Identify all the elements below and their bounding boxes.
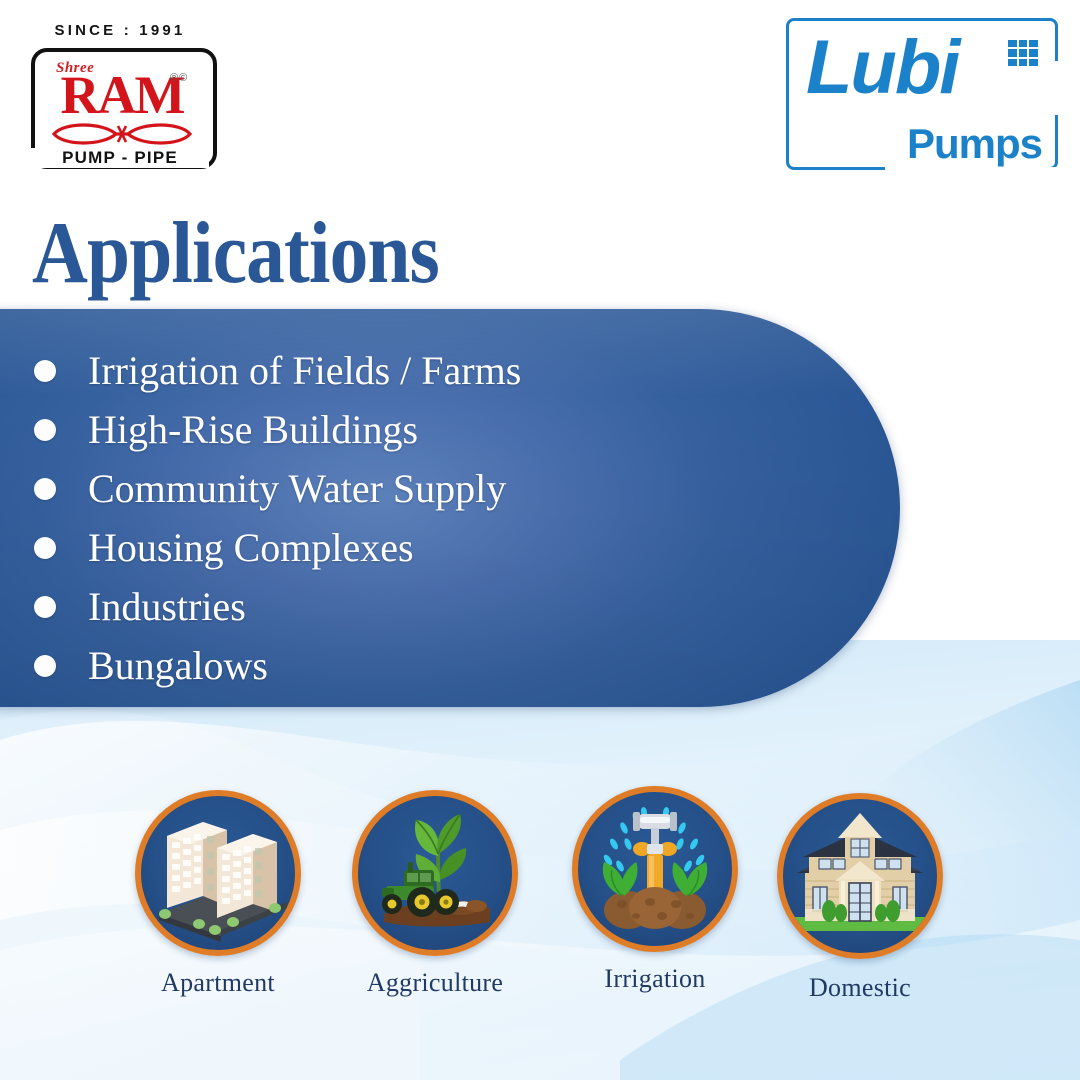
lubi-pumps-logo: Lubi Pumps: [786, 18, 1058, 170]
applications-list: Irrigation of Fields / Farms High-Rise B…: [34, 341, 794, 695]
pump-pipe-text: PUMP - PIPE: [31, 148, 209, 168]
bullet-dot-icon: [34, 360, 56, 382]
poster-canvas: SINCE : 1991 Shree RAM ®© PUMP - PIPE Lu…: [0, 0, 1080, 1080]
list-item-label: Irrigation of Fields / Farms: [88, 350, 521, 392]
lubi-grid-icon: [1008, 40, 1038, 66]
bullet-dot-icon: [34, 419, 56, 441]
segment-domestic: Domestic: [772, 793, 948, 1003]
since-text: SINCE : 1991: [22, 22, 218, 39]
registered-mark: ®©: [170, 72, 188, 84]
list-item-label: Bungalows: [88, 645, 268, 687]
segment-label: Domestic: [772, 973, 948, 1003]
page-title: Applications: [32, 208, 439, 300]
list-item-label: Industries: [88, 586, 246, 628]
lubi-wordmark: Lubi: [806, 24, 958, 111]
segment-agriculture: Aggriculture: [347, 790, 523, 998]
list-item-label: High-Rise Buildings: [88, 409, 418, 451]
bullet-dot-icon: [34, 655, 56, 677]
pumps-subtitle: Pumps: [907, 120, 1042, 168]
tractor-plant-icon: [352, 790, 518, 956]
list-item: Irrigation of Fields / Farms: [34, 341, 794, 400]
shree-ram-logo: SINCE : 1991 Shree RAM ®© PUMP - PIPE: [22, 22, 218, 166]
bullet-dot-icon: [34, 596, 56, 618]
ram-swirl-icon: [50, 122, 194, 146]
segment-label: Irrigation: [567, 964, 743, 994]
segment-label: Apartment: [130, 968, 306, 998]
sprinkler-icon: [572, 786, 738, 952]
list-item-label: Community Water Supply: [88, 468, 506, 510]
list-item-label: Housing Complexes: [88, 527, 414, 569]
segment-irrigation: Irrigation: [567, 786, 743, 994]
house-icon: [777, 793, 943, 959]
segment-label: Aggriculture: [347, 968, 523, 998]
segment-apartment: Apartment: [130, 790, 306, 998]
bullet-dot-icon: [34, 537, 56, 559]
segment-icons-row: Apartment: [0, 790, 1080, 1030]
bullet-dot-icon: [34, 478, 56, 500]
list-item: High-Rise Buildings: [34, 400, 794, 459]
list-item: Housing Complexes: [34, 518, 794, 577]
apartment-buildings-icon: [135, 790, 301, 956]
list-item: Bungalows: [34, 636, 794, 695]
list-item: Industries: [34, 577, 794, 636]
list-item: Community Water Supply: [34, 459, 794, 518]
